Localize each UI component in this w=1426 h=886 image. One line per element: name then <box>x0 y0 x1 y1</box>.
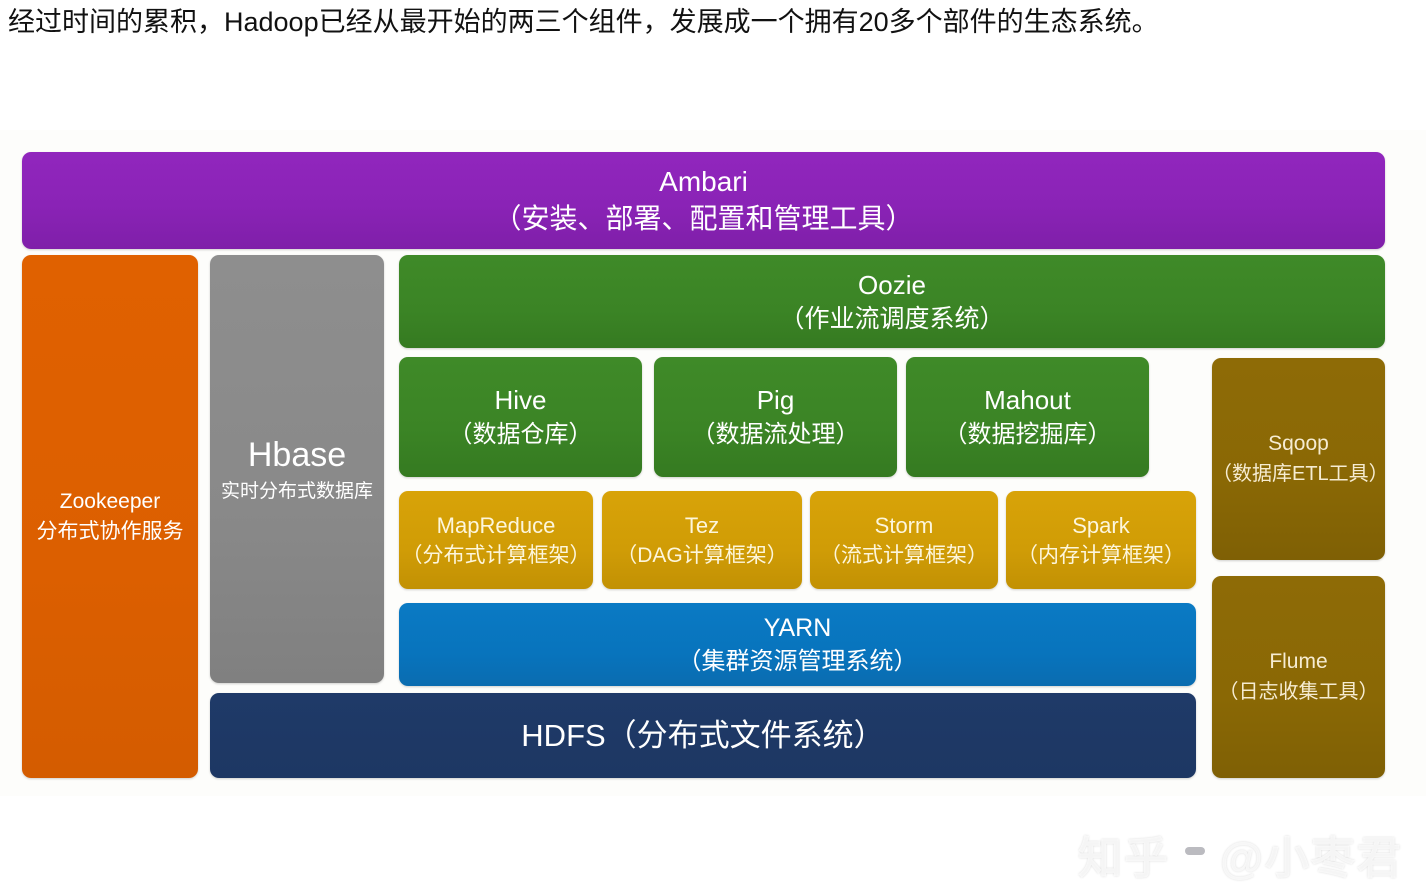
block-pig: Pig （数据流处理） <box>654 357 897 477</box>
zhihu-logo-icon <box>1175 834 1215 874</box>
block-oozie-desc: （作业流调度系统） <box>779 302 1004 336</box>
page-caption: 经过时间的累积，Hadoop已经从最开始的两三个组件，发展成一个拥有20多个部件… <box>8 6 1418 40</box>
block-tez-title: Tez <box>685 510 719 541</box>
block-hbase-title: Hbase <box>248 432 346 478</box>
block-hbase-desc: 实时分布式数据库 <box>221 478 373 506</box>
block-storm-desc: （流式计算框架） <box>820 541 988 571</box>
block-spark: Spark （内存计算框架） <box>1006 491 1196 589</box>
block-storm-title: Storm <box>875 510 934 541</box>
block-sqoop-title: Sqoop <box>1268 429 1329 459</box>
hadoop-ecosystem-diagram: Ambari （安装、部署、配置和管理工具） Zookeeper 分布式协作服务… <box>0 130 1426 796</box>
block-yarn-desc: （集群资源管理系统） <box>678 645 918 678</box>
block-zookeeper-desc: 分布式协作服务 <box>37 517 184 547</box>
block-mahout: Mahout （数据挖掘库） <box>906 357 1149 477</box>
block-sqoop-desc: （数据库ETL工具） <box>1212 459 1385 489</box>
block-zookeeper: Zookeeper 分布式协作服务 <box>22 255 198 778</box>
block-hive-title: Hive <box>494 382 546 418</box>
block-tez: Tez （DAG计算框架） <box>602 491 802 589</box>
block-oozie: Oozie （作业流调度系统） <box>399 255 1385 348</box>
block-mapreduce: MapReduce （分布式计算框架） <box>399 491 593 589</box>
block-zookeeper-title: Zookeeper <box>60 487 160 517</box>
block-pig-title: Pig <box>757 382 795 418</box>
watermark-site: 知乎 <box>1078 822 1170 886</box>
block-ambari-title: Ambari <box>659 164 748 200</box>
block-sqoop: Sqoop （数据库ETL工具） <box>1212 358 1385 560</box>
block-pig-desc: （数据流处理） <box>692 418 860 452</box>
watermark-author: @小枣君 <box>1220 822 1403 886</box>
block-spark-title: Spark <box>1072 510 1129 541</box>
block-mapreduce-title: MapReduce <box>437 510 556 541</box>
block-mahout-title: Mahout <box>984 382 1071 418</box>
block-hive-desc: （数据仓库） <box>449 418 593 452</box>
block-flume-desc: （日志收集工具） <box>1219 677 1379 707</box>
block-yarn-title: YARN <box>764 612 832 645</box>
block-oozie-title: Oozie <box>858 268 926 302</box>
block-hive: Hive （数据仓库） <box>399 357 642 477</box>
watermark: 知乎 @小枣君 <box>1078 822 1403 886</box>
block-storm: Storm （流式计算框架） <box>810 491 998 589</box>
block-hdfs: HDFS（分布式文件系统） <box>210 693 1196 778</box>
block-flume-title: Flume <box>1269 647 1327 677</box>
block-hdfs-title: HDFS（分布式文件系统） <box>521 715 884 757</box>
block-mahout-desc: （数据挖掘库） <box>944 418 1112 452</box>
block-hbase: Hbase 实时分布式数据库 <box>210 255 384 683</box>
block-ambari-desc: （安装、部署、配置和管理工具） <box>493 200 913 238</box>
block-tez-desc: （DAG计算框架） <box>616 541 788 571</box>
block-flume: Flume （日志收集工具） <box>1212 576 1385 778</box>
block-yarn: YARN （集群资源管理系统） <box>399 603 1196 686</box>
block-spark-desc: （内存计算框架） <box>1017 541 1185 571</box>
block-mapreduce-desc: （分布式计算框架） <box>402 541 591 571</box>
block-ambari: Ambari （安装、部署、配置和管理工具） <box>22 152 1385 249</box>
